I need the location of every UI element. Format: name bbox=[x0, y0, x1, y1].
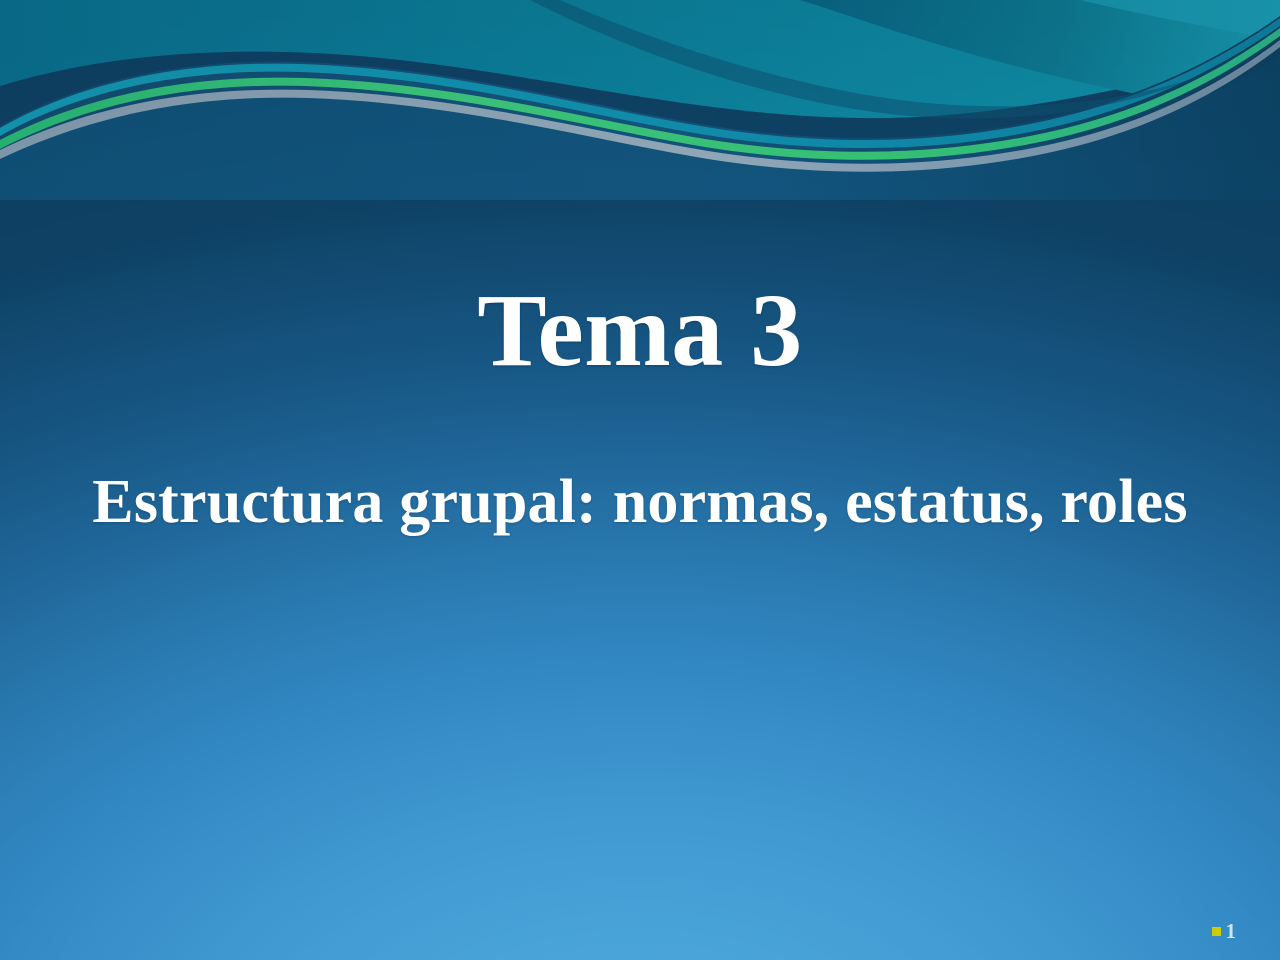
slide-number-group: 1 bbox=[1212, 921, 1237, 942]
presentation-title-slide: Tema 3 Estructura grupal: normas, estatu… bbox=[0, 0, 1280, 960]
slide-title: Tema 3 bbox=[64, 276, 1216, 386]
subtitle-placeholder[interactable]: Estructura grupal: normas, estatus, role… bbox=[48, 462, 1232, 543]
slide-number-text: 1 bbox=[1226, 921, 1237, 942]
title-placeholder[interactable]: Tema 3 bbox=[64, 276, 1216, 386]
slide-subtitle: Estructura grupal: normas, estatus, role… bbox=[48, 462, 1232, 543]
square-bullet-icon bbox=[1212, 927, 1221, 936]
